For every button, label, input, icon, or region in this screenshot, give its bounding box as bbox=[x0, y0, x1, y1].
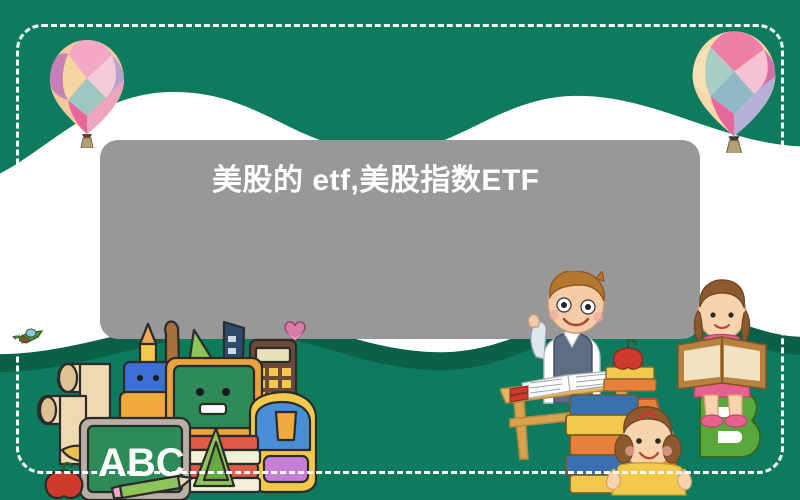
hot-air-balloon-icon bbox=[44, 38, 130, 148]
school-supplies-illustration: ABC bbox=[28, 300, 328, 500]
page-title: 美股的 etf,美股指数ETF bbox=[212, 160, 682, 202]
banner: ABC bbox=[0, 0, 800, 500]
children-reading-illustration bbox=[500, 271, 790, 496]
hot-air-balloon-icon bbox=[686, 28, 782, 153]
